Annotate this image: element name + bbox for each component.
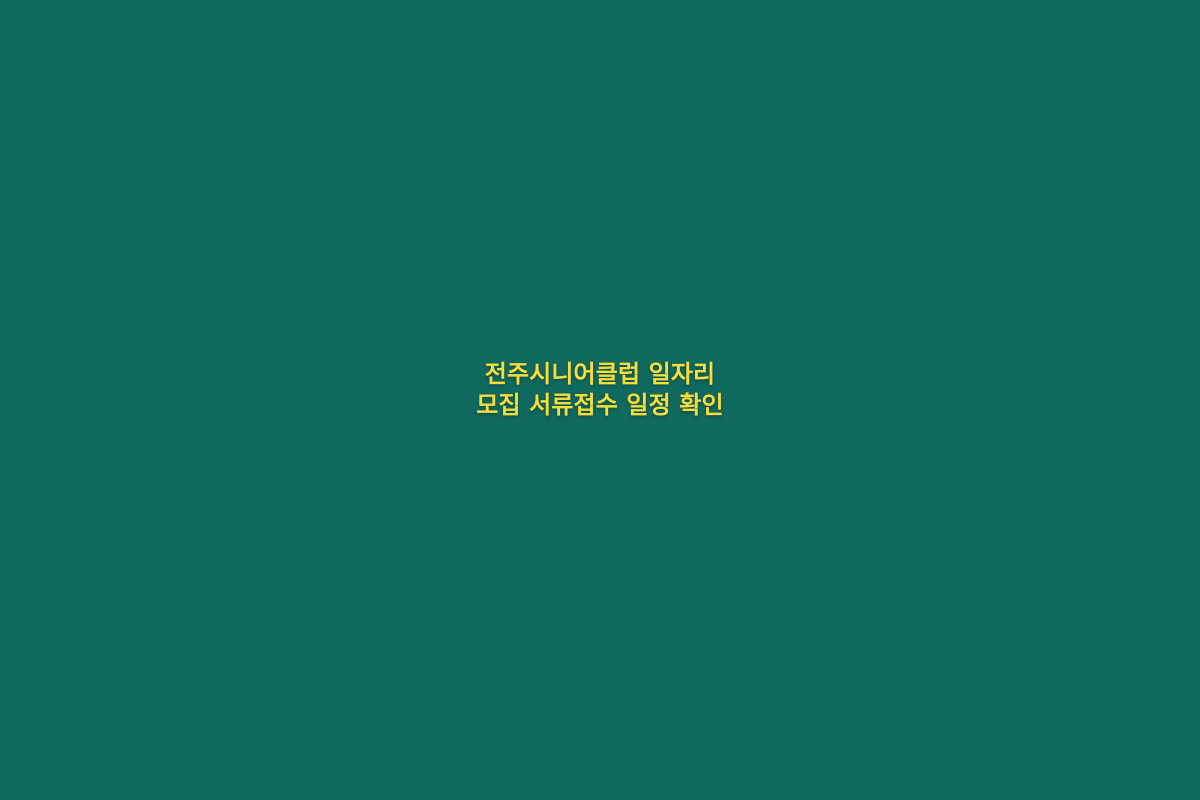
banner-canvas: 전주시니어클럽 일자리 모집 서류접수 일정 확인 [0,0,1200,800]
headline-block: 전주시니어클럽 일자리 모집 서류접수 일정 확인 [0,359,1200,421]
headline-line-1: 전주시니어클럽 일자리 [0,359,1200,390]
headline-line-2: 모집 서류접수 일정 확인 [0,390,1200,421]
